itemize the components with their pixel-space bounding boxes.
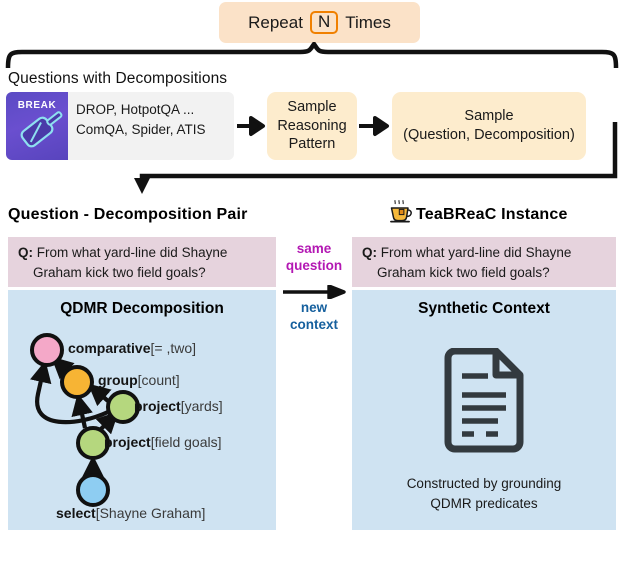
feedback-loop-arrow-icon [120,120,624,200]
left-panel-title: Question - Decomposition Pair [8,206,248,224]
caption-line-1: Constructed by grounding [352,474,616,494]
right-question-text: Q: From what yard-line did Shayne Graham… [362,243,610,282]
scope-brace-icon [0,42,624,68]
right-panel-title: TeaBReaC Instance [416,206,568,224]
right-question-line-1: From what yard-line did Shayne [381,245,572,260]
right-question-label: Q: [362,245,377,260]
graph-arg-comparative: [= ,two] [150,340,196,356]
new-context-annotation: new context [276,300,352,334]
right-question-banner: Q: From what yard-line did Shayne Graham… [352,237,616,287]
graph-node-comparative[interactable] [32,335,62,365]
sample-pattern-line-1: Sample [277,98,346,117]
graph-label-comparative: comparative[= ,two] [68,340,196,356]
teacup-icon [389,200,415,226]
caption-line-2: QDMR predicates [352,494,616,514]
graph-label-select: select[Shayne Graham] [56,505,205,521]
graph-arg-project-field-goals: [field goals] [151,434,222,450]
left-question-line-1: From what yard-line did Shayne [37,245,228,260]
repeat-prefix-label: Repeat [248,13,303,33]
edge-yards-to-group [93,388,108,401]
graph-label-project-yards: project[yards] [134,398,223,414]
same-question-annotation: same question [276,241,352,275]
new-context-line-1: new [276,300,352,317]
same-question-line-2: question [276,258,352,275]
repeat-banner: Repeat N Times [219,2,420,43]
graph-label-group: group[count] [98,372,180,388]
new-context-line-2: context [276,317,352,334]
synthetic-context-caption: Constructed by grounding QDMR predicates [352,474,616,513]
graph-node-group[interactable] [62,367,92,397]
graph-op-project-yards: project [134,398,181,414]
repeat-suffix-label: Times [345,13,391,33]
left-question-banner: Q: From what yard-line did Shayne Graham… [8,237,276,287]
questions-with-decompositions-label: Questions with Decompositions [8,70,227,88]
graph-arg-select: [Shayne Graham] [96,505,206,521]
edge-fieldgoals-to-group [79,400,85,428]
graph-arg-project-yards: [yards] [181,398,223,414]
break-hammer-icon [6,92,68,160]
graph-label-project-field-goals: project[field goals] [104,434,222,450]
graph-op-comparative: comparative [68,340,150,356]
transform-arrow-icon [282,285,346,299]
document-icon [438,348,530,458]
graph-node-select[interactable] [78,475,108,505]
left-question-text: Q: From what yard-line did Shayne Graham… [18,243,270,282]
synthetic-context-heading: Synthetic Context [352,300,616,318]
right-question-line-2: Graham kick two field goals? [362,263,610,283]
graph-op-project-field-goals: project [104,434,151,450]
graph-op-group: group [98,372,138,388]
left-question-line-2: Graham kick two field goals? [18,263,270,283]
graph-arg-group: [count] [138,372,180,388]
same-question-line-1: same [276,241,352,258]
dataset-line-1: DROP, HotpotQA ... [76,100,236,120]
repeat-variable-badge: N [310,11,338,35]
graph-op-select: select [56,505,96,521]
left-question-label: Q: [18,245,33,260]
break-logo: BREAK [6,92,68,160]
